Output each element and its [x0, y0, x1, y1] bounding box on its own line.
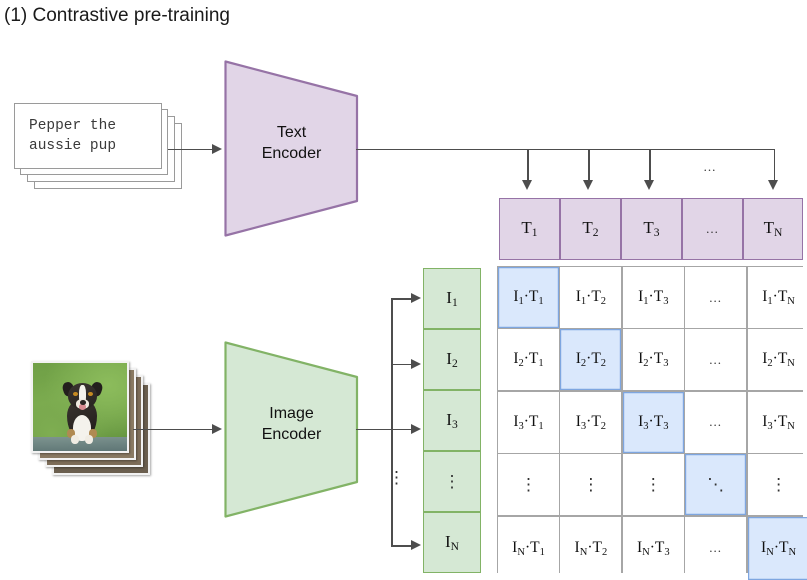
text-bus-drop-n	[774, 149, 776, 182]
matrix-cell-r1-c2: I1·T2	[560, 267, 621, 328]
matrix-cell-r2-c3: I2·T3	[623, 329, 684, 390]
matrix-cell-label: I2·TN	[762, 350, 795, 369]
image-embedding-label-3: I3	[446, 410, 457, 431]
puppy-paw-left	[71, 435, 79, 444]
text-embedding-label-3: T3	[643, 218, 659, 239]
puppy-tongue	[79, 404, 86, 410]
matrix-cell-r3-c4: ...	[685, 392, 746, 453]
image-embedding-label-1: I1	[446, 288, 457, 309]
matrix-cell-r5-c5: IN·TN	[748, 517, 807, 580]
text-bus-drop-3	[649, 149, 651, 182]
matrix-cell-r2-c1: I2·T1	[498, 329, 559, 390]
matrix-cell-label: I1·TN	[762, 288, 795, 307]
matrix-cell-label: I1·T2	[576, 288, 606, 307]
text-sample-content: Pepper the aussie pup	[14, 103, 162, 169]
matrix-ellipsis-horizontal: ...	[709, 414, 722, 430]
matrix-ellipsis-horizontal: ...	[709, 290, 722, 306]
diagram-canvas: (1) Contrastive pre-training Pepper the …	[0, 0, 807, 580]
image-embedding-cell-ellipsis: ⋮	[423, 451, 481, 512]
text-bus-horizontal	[356, 149, 775, 151]
puppy-eye-right	[88, 392, 93, 396]
matrix-cell-r3-c3: I3·T3	[623, 392, 684, 453]
text-bus-arrowhead-3	[644, 180, 654, 190]
image-bus-stem	[356, 429, 392, 431]
image-embedding-cell-3: I3	[423, 390, 481, 451]
text-embedding-label-2: T2	[582, 218, 598, 239]
matrix-cell-r2-c5: I2·TN	[748, 329, 807, 390]
matrix-cell-label: I2·T3	[638, 350, 668, 369]
matrix-ellipsis-vertical: ⋮	[520, 476, 537, 493]
similarity-matrix: I1·T1I1·T2I1·T3...I1·TNI2·T1I2·T2I2·T3..…	[497, 266, 803, 573]
puppy-eye-left	[73, 392, 78, 396]
puppy-paw-right	[85, 435, 93, 444]
text-embedding-cell-3: T3	[621, 198, 682, 260]
matrix-cell-r4-c3: ⋮	[623, 454, 684, 515]
matrix-ellipsis-vertical: ⋮	[582, 476, 599, 493]
matrix-cell-r3-c1: I3·T1	[498, 392, 559, 453]
matrix-cell-label: I3·T1	[513, 413, 543, 432]
image-card-front	[31, 361, 129, 453]
matrix-ellipsis-horizontal: ...	[709, 352, 722, 368]
image-to-encoder-arrowhead	[212, 424, 222, 434]
puppy-nose	[80, 400, 86, 405]
image-embedding-ellipsis: ⋮	[444, 473, 461, 490]
matrix-cell-r5-c4: ...	[685, 517, 746, 580]
text-encoder-shape: Text Encoder	[224, 60, 359, 237]
text-embedding-cell-2: T2	[560, 198, 621, 260]
text-embedding-label-1: T1	[521, 218, 537, 239]
image-bus-arrowhead-2	[411, 359, 421, 369]
text-embedding-cell-1: T1	[499, 198, 560, 260]
text-bus-ellipsis: ...	[695, 159, 725, 175]
image-bus-vertical	[391, 298, 393, 545]
image-bus-branch-n	[391, 545, 413, 547]
matrix-cell-r2-c2: I2·T2	[560, 329, 621, 390]
matrix-cell-label: IN·T1	[512, 539, 545, 558]
matrix-cell-r2-c4: ...	[685, 329, 746, 390]
matrix-ellipsis-vertical: ⋮	[645, 476, 662, 493]
matrix-cell-label: I3·T3	[638, 413, 668, 432]
matrix-cell-label: I1·T3	[638, 288, 668, 307]
matrix-cell-r5-c2: IN·T2	[560, 517, 621, 580]
matrix-cell-label: I2·T2	[576, 350, 606, 369]
image-embedding-cell-2: I2	[423, 329, 481, 390]
matrix-cell-r1-c5: I1·TN	[748, 267, 807, 328]
matrix-cell-label: I2·T1	[513, 350, 543, 369]
image-embedding-cell-1: I1	[423, 268, 481, 329]
matrix-cell-r5-c3: IN·T3	[623, 517, 684, 580]
image-bus-ellipsis: ⋮	[388, 468, 402, 488]
matrix-cell-r4-c4: ⋱	[685, 454, 746, 515]
image-bus-arrowhead-n	[411, 540, 421, 550]
matrix-cell-r5-c1: IN·T1	[498, 517, 559, 580]
matrix-cell-label: IN·T3	[637, 539, 670, 558]
matrix-cell-r1-c4: ...	[685, 267, 746, 328]
text-sample-line1: Pepper the	[29, 116, 162, 136]
text-embedding-cell-ellipsis: ...	[682, 198, 743, 260]
page-title: (1) Contrastive pre-training	[4, 4, 230, 28]
matrix-cell-r4-c1: ⋮	[498, 454, 559, 515]
image-embedding-label-n: IN	[445, 532, 459, 553]
text-bus-arrowhead-n	[768, 180, 778, 190]
matrix-cell-r1-c1: I1·T1	[498, 267, 559, 328]
matrix-cell-label: IN·T2	[575, 539, 608, 558]
matrix-ellipsis-vertical: ⋮	[770, 476, 787, 493]
image-encoder-shape: Image Encoder	[224, 341, 359, 518]
image-bus-branch-2	[391, 364, 413, 366]
image-bus-branch-1	[391, 298, 413, 300]
matrix-cell-label: I3·TN	[762, 413, 795, 432]
image-embedding-label-2: I2	[446, 349, 457, 370]
text-bus-drop-2	[588, 149, 590, 182]
image-embedding-cell-n: IN	[423, 512, 481, 573]
text-sample-line2: aussie pup	[29, 136, 162, 156]
matrix-cell-r3-c5: I3·TN	[748, 392, 807, 453]
image-bus-arrowhead-3	[411, 424, 421, 434]
matrix-cell-r1-c3: I1·T3	[623, 267, 684, 328]
text-bus-drop-1	[527, 149, 529, 182]
text-embedding-ellipsis: ...	[706, 221, 719, 237]
text-to-encoder-line	[168, 149, 214, 151]
matrix-cell-r3-c2: I3·T2	[560, 392, 621, 453]
matrix-cell-label: I1·T1	[513, 288, 543, 307]
matrix-cell-r4-c5: ⋮	[748, 454, 807, 515]
image-bus-arrowhead-1	[411, 293, 421, 303]
text-to-encoder-arrowhead	[212, 144, 222, 154]
matrix-ellipsis-diagonal: ⋱	[707, 476, 724, 493]
text-bus-arrowhead-2	[583, 180, 593, 190]
text-bus-arrowhead-1	[522, 180, 532, 190]
matrix-cell-label: I3·T2	[576, 413, 606, 432]
image-bus-branch-3	[391, 429, 413, 431]
matrix-ellipsis-horizontal: ...	[709, 540, 722, 556]
matrix-cell-r4-c2: ⋮	[560, 454, 621, 515]
matrix-cell-label: IN·TN	[761, 539, 796, 558]
image-to-encoder-line	[133, 429, 214, 431]
text-embedding-cell-n: TN	[743, 198, 803, 260]
text-embedding-label-n: TN	[764, 218, 783, 239]
